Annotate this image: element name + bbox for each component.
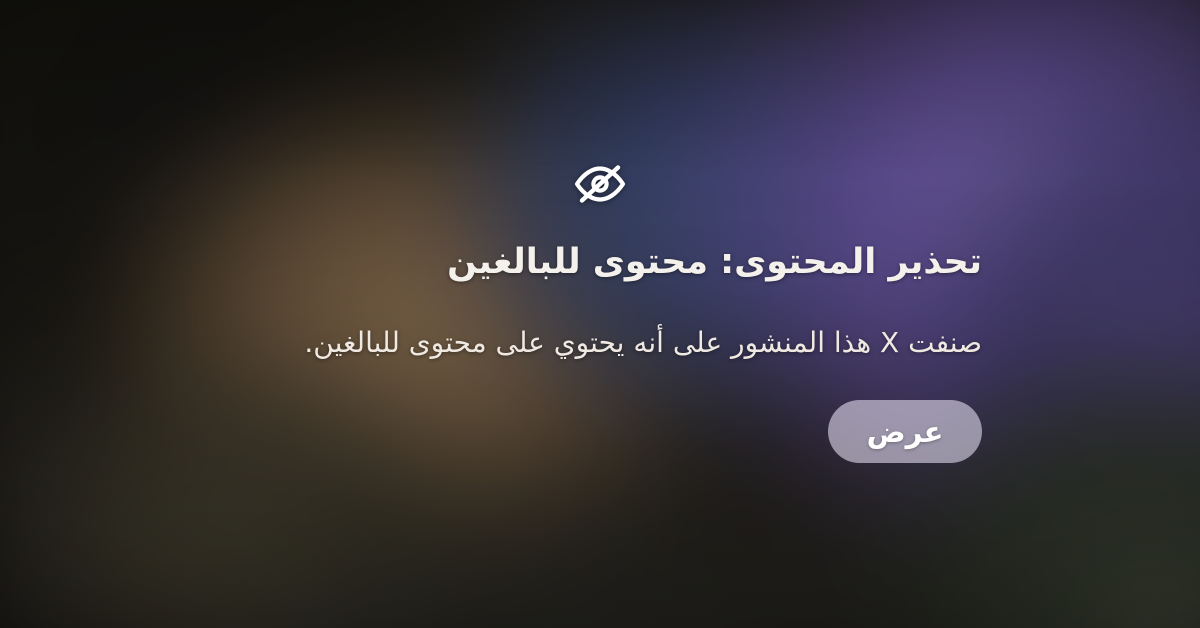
view-button[interactable]: عرض	[828, 400, 982, 463]
page-title: تحذير المحتوى: محتوى للبالغين	[212, 241, 982, 284]
eye-off-icon	[572, 160, 628, 208]
content-warning-overlay: تحذير المحتوى: محتوى للبالغين صنفت X هذا…	[0, 0, 1200, 628]
warning-content: تحذير المحتوى: محتوى للبالغين صنفت X هذا…	[0, 0, 1200, 628]
warning-description: صنفت X هذا المنشور على أنه يحتوي على محت…	[212, 325, 982, 362]
